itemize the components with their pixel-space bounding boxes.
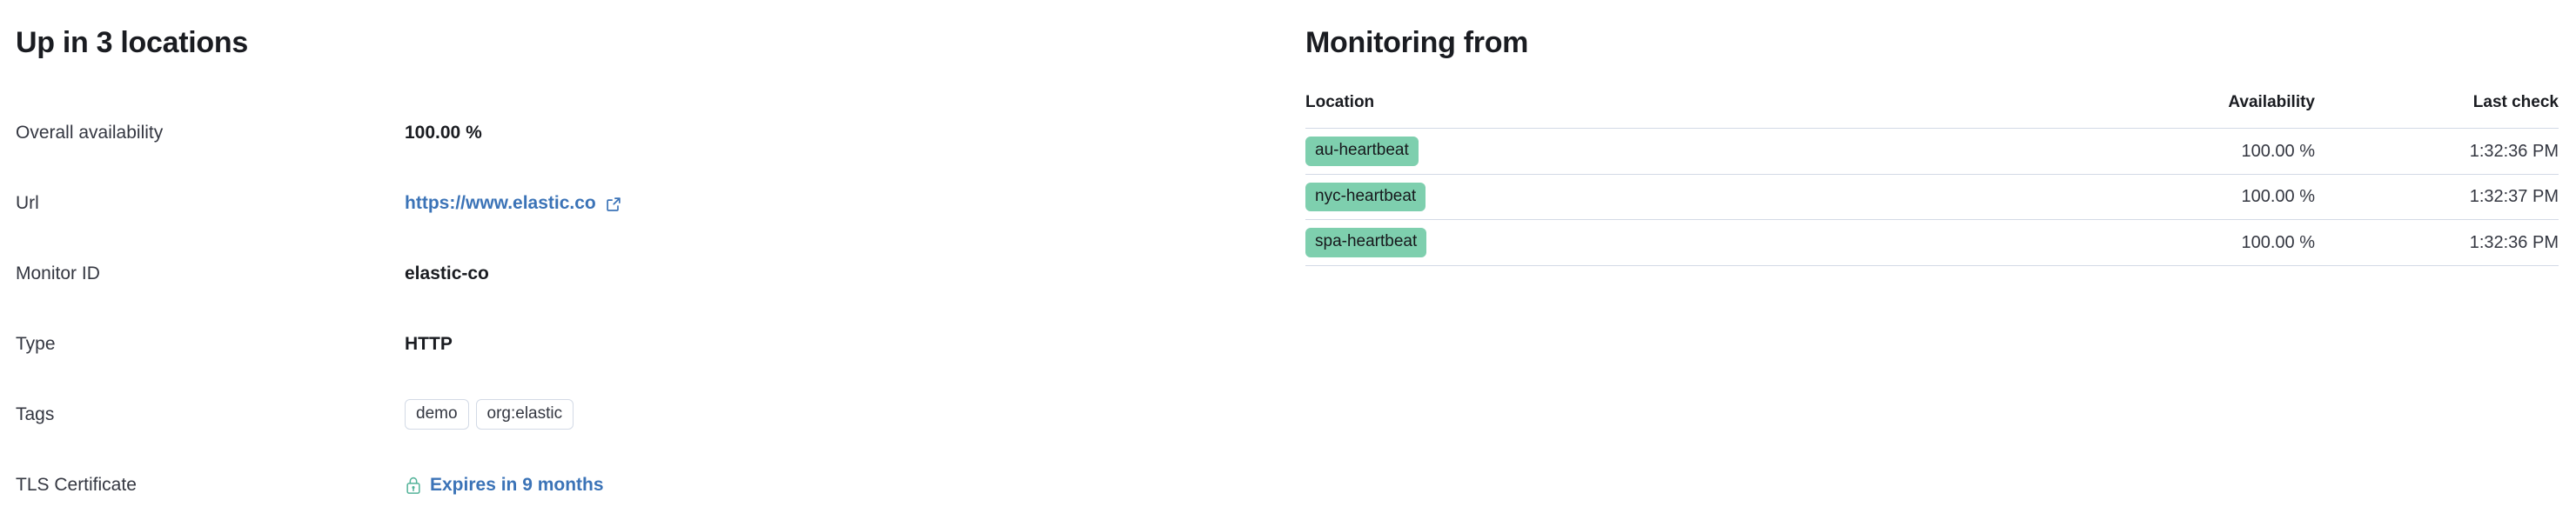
external-link-icon[interactable] <box>605 196 622 213</box>
meta-row-tls-certificate: TLS Certificate Expires in 9 months <box>16 450 1251 520</box>
tls-certificate-link[interactable]: Expires in 9 months <box>405 474 604 496</box>
meta-value-tls-certificate: Expires in 9 months <box>405 474 604 496</box>
tag-pill[interactable]: org:elastic <box>476 399 574 430</box>
location-badge[interactable]: spa-heartbeat <box>1305 228 1426 257</box>
cell-location: spa-heartbeat <box>1305 220 1967 266</box>
monitor-url-link[interactable]: https://www.elastic.co <box>405 192 622 214</box>
column-header-availability[interactable]: Availability <box>1967 93 2315 128</box>
locations-table-head: Location Availability Last check <box>1305 93 2559 128</box>
cell-last-check: 1:32:36 PM <box>2315 128 2559 174</box>
locations-table-body: au-heartbeat 100.00 % 1:32:36 PM nyc-hea… <box>1305 128 2559 265</box>
meta-value-overall-availability: 100.00 % <box>405 122 482 143</box>
location-badge[interactable]: nyc-heartbeat <box>1305 183 1426 212</box>
locations-table: Location Availability Last check au-hear… <box>1305 93 2559 266</box>
meta-label-tags: Tags <box>16 403 405 425</box>
meta-label-tls-certificate: TLS Certificate <box>16 474 405 496</box>
meta-value-tags: demo org:elastic <box>405 399 574 430</box>
meta-row-type: Type HTTP <box>16 309 1251 379</box>
table-row[interactable]: au-heartbeat 100.00 % 1:32:36 PM <box>1305 128 2559 174</box>
meta-value-monitor-id: elastic-co <box>405 263 489 284</box>
page-title: Up in 3 locations <box>16 0 1251 57</box>
tag-list: demo org:elastic <box>405 399 574 430</box>
cell-location: au-heartbeat <box>1305 128 1967 174</box>
meta-label-overall-availability: Overall availability <box>16 122 405 143</box>
meta-value-type: HTTP <box>405 333 453 355</box>
meta-row-tags: Tags demo org:elastic <box>16 379 1251 450</box>
cell-last-check: 1:32:36 PM <box>2315 220 2559 266</box>
table-header-row: Location Availability Last check <box>1305 93 2559 128</box>
column-header-location[interactable]: Location <box>1305 93 1967 128</box>
monitor-meta-list: Overall availability 100.00 % Url https:… <box>16 97 1251 520</box>
table-row[interactable]: spa-heartbeat 100.00 % 1:32:36 PM <box>1305 220 2559 266</box>
tls-certificate-text: Expires in 9 months <box>430 474 604 496</box>
meta-row-monitor-id: Monitor ID elastic-co <box>16 238 1251 309</box>
tag-pill[interactable]: demo <box>405 399 469 430</box>
meta-label-type: Type <box>16 333 405 355</box>
monitor-detail-page: Up in 3 locations Overall availability 1… <box>0 0 2576 518</box>
cell-last-check: 1:32:37 PM <box>2315 174 2559 220</box>
table-row[interactable]: nyc-heartbeat 100.00 % 1:32:37 PM <box>1305 174 2559 220</box>
lock-icon <box>405 476 422 495</box>
column-header-last-check[interactable]: Last check <box>2315 93 2559 128</box>
cell-location: nyc-heartbeat <box>1305 174 1967 220</box>
meta-label-url: Url <box>16 192 405 214</box>
monitor-summary-panel: Up in 3 locations Overall availability 1… <box>16 0 1251 518</box>
cell-availability: 100.00 % <box>1967 220 2315 266</box>
location-badge[interactable]: au-heartbeat <box>1305 137 1419 166</box>
cell-availability: 100.00 % <box>1967 174 2315 220</box>
cell-availability: 100.00 % <box>1967 128 2315 174</box>
meta-row-url: Url https://www.elastic.co <box>16 168 1251 238</box>
monitoring-from-title: Monitoring from <box>1305 0 2560 57</box>
meta-label-monitor-id: Monitor ID <box>16 263 405 284</box>
meta-row-overall-availability: Overall availability 100.00 % <box>16 97 1251 168</box>
monitor-url-text: https://www.elastic.co <box>405 192 596 214</box>
monitoring-locations-panel: Monitoring from Location Availability La… <box>1305 0 2560 518</box>
